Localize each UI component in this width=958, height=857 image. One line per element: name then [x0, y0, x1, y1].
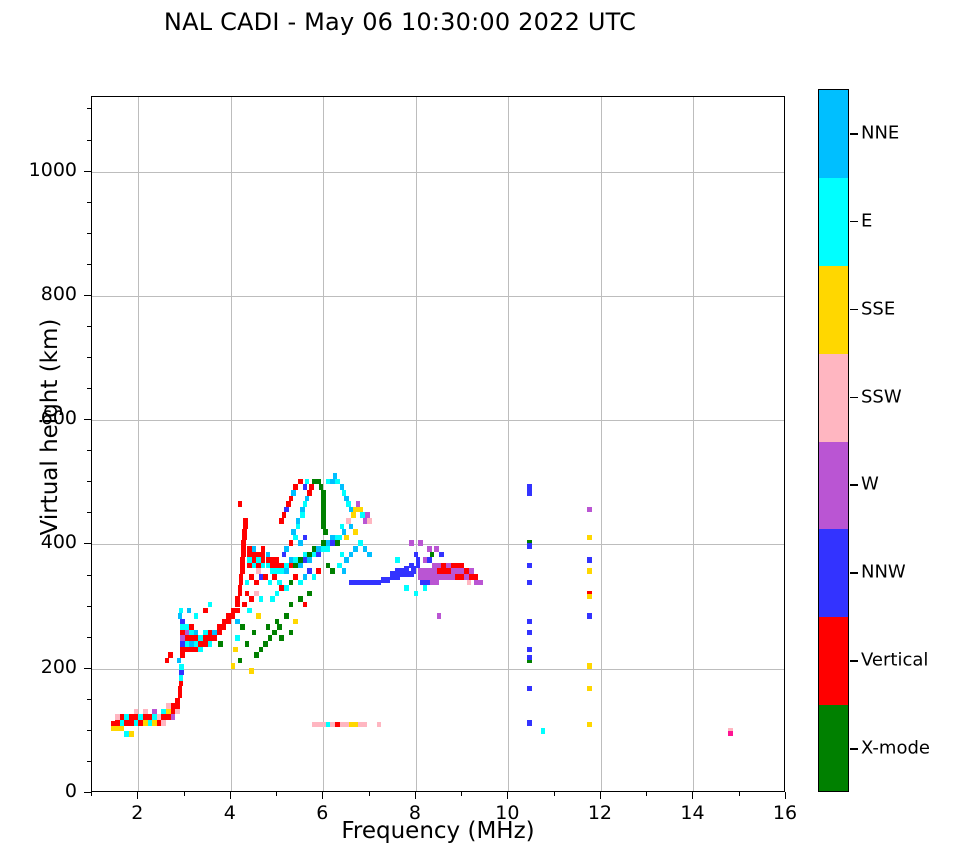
echo-marker — [300, 507, 305, 513]
echo-marker — [238, 591, 243, 597]
echo-marker — [129, 731, 134, 737]
echo-marker — [303, 501, 308, 507]
echo-marker — [240, 568, 245, 574]
colorbar-label-w: W — [861, 474, 879, 495]
echo-marker — [353, 529, 358, 535]
y-tick-minor — [87, 450, 91, 451]
echo-marker — [238, 501, 243, 507]
echo-marker — [404, 566, 409, 572]
echo-marker — [527, 563, 532, 569]
echo-marker — [587, 613, 592, 619]
y-tick-major — [84, 792, 91, 793]
echo-marker — [259, 647, 264, 653]
echo-marker — [282, 552, 287, 558]
echo-marker — [242, 529, 247, 535]
echo-marker — [425, 580, 430, 586]
x-tick-major — [692, 792, 693, 799]
x-tick-major — [137, 792, 138, 799]
colorbar-label-e: E — [861, 210, 872, 231]
gridline-horizontal — [92, 296, 784, 297]
x-tick-minor — [461, 792, 462, 796]
echo-marker — [344, 557, 349, 563]
echo-marker — [434, 546, 439, 552]
colorbar — [818, 89, 849, 792]
echo-marker — [208, 602, 213, 608]
plot-area — [91, 96, 785, 792]
x-tick-minor — [184, 792, 185, 796]
colorbar-tick — [850, 221, 858, 223]
x-tick-major — [322, 792, 323, 799]
colorbar-tick — [850, 309, 858, 311]
echo-marker — [587, 686, 592, 692]
echo-marker — [312, 574, 317, 580]
echo-marker — [233, 647, 238, 653]
echo-marker — [293, 619, 298, 625]
x-tick-minor — [91, 792, 92, 796]
colorbar-segment-nnw — [819, 529, 848, 617]
y-tick-major — [84, 295, 91, 296]
y-tick-minor — [87, 140, 91, 141]
echo-marker — [256, 613, 261, 619]
colorbar-segment-x-mode — [819, 705, 848, 792]
echo-marker — [390, 571, 395, 577]
x-tick-major — [600, 792, 601, 799]
echo-marker — [178, 613, 183, 619]
echo-marker — [296, 524, 301, 530]
echo-marker — [434, 580, 439, 586]
gridline-horizontal — [92, 669, 784, 670]
y-tick-minor — [87, 512, 91, 513]
colorbar-label-nnw: NNW — [861, 562, 906, 583]
colorbar-tick — [850, 572, 858, 574]
echo-marker — [296, 518, 301, 524]
echo-marker — [316, 568, 321, 574]
echo-marker — [235, 596, 240, 602]
echo-marker — [527, 630, 532, 636]
y-tick-minor — [87, 357, 91, 358]
y-tick-major — [84, 419, 91, 420]
echo-marker — [279, 635, 284, 641]
echo-marker — [175, 709, 180, 715]
echo-marker — [342, 568, 347, 574]
echo-marker — [298, 563, 303, 569]
echo-marker — [179, 675, 184, 681]
gridline-vertical — [323, 97, 324, 791]
echo-marker — [245, 580, 250, 586]
y-tick-minor — [87, 575, 91, 576]
colorbar-tick — [850, 133, 858, 135]
echo-marker — [194, 613, 199, 619]
y-tick-minor — [87, 388, 91, 389]
echo-marker — [289, 540, 294, 546]
echo-marker — [275, 591, 280, 597]
colorbar-segment-nne — [819, 90, 848, 178]
echo-marker — [420, 580, 425, 586]
echo-marker — [367, 518, 372, 524]
colorbar-tick — [850, 660, 858, 662]
echo-marker — [423, 557, 428, 563]
echo-marker — [367, 552, 372, 558]
echo-marker — [298, 580, 303, 586]
x-tick-minor — [739, 792, 740, 796]
echo-marker — [527, 647, 532, 653]
x-tick-minor — [276, 792, 277, 796]
echo-marker — [241, 546, 246, 552]
echo-marker — [284, 613, 289, 619]
echo-marker — [330, 568, 335, 574]
gridline-vertical — [416, 97, 417, 791]
echo-marker — [235, 635, 240, 641]
echo-marker — [284, 585, 289, 591]
gridline-vertical — [231, 97, 232, 791]
echo-marker — [587, 535, 592, 541]
echo-marker — [541, 728, 546, 734]
x-tick-minor — [554, 792, 555, 796]
y-axis-label: Virtual height (km) — [37, 247, 63, 607]
echo-marker — [305, 496, 310, 502]
echo-marker — [240, 563, 245, 569]
echo-marker — [587, 507, 592, 513]
echo-marker — [179, 681, 184, 687]
echo-marker — [527, 580, 532, 586]
echo-marker — [303, 484, 308, 490]
echo-marker — [268, 635, 273, 641]
echo-marker — [414, 591, 419, 597]
echo-marker — [303, 574, 308, 580]
echo-marker — [527, 490, 532, 496]
echo-marker — [323, 529, 328, 535]
y-tick-minor — [87, 606, 91, 607]
echo-marker — [238, 658, 243, 664]
echo-marker — [178, 692, 183, 698]
echo-marker — [254, 580, 259, 586]
gridline-vertical — [508, 97, 509, 791]
echo-marker — [416, 557, 421, 563]
echo-marker — [208, 641, 213, 647]
echo-marker — [728, 731, 733, 737]
echo-marker — [395, 557, 400, 563]
colorbar-label-ssw: SSW — [861, 386, 902, 407]
colorbar-label-sse: SSE — [861, 298, 895, 319]
echo-marker — [187, 608, 192, 614]
echo-marker — [298, 540, 303, 546]
echo-marker — [179, 664, 184, 670]
x-tick-major — [415, 792, 416, 799]
echo-marker — [266, 624, 271, 630]
echo-marker — [235, 608, 240, 614]
echo-marker — [241, 552, 246, 558]
echo-marker — [307, 490, 312, 496]
echo-marker — [161, 720, 166, 726]
y-tick-minor — [87, 202, 91, 203]
x-tick-minor — [646, 792, 647, 796]
echo-marker — [241, 540, 246, 546]
echo-marker — [238, 585, 243, 591]
y-tick-minor — [87, 481, 91, 482]
echo-marker — [423, 585, 428, 591]
x-tick-minor — [369, 792, 370, 796]
echo-marker — [231, 663, 236, 669]
x-tick-major — [507, 792, 508, 799]
y-tick-minor — [87, 637, 91, 638]
echo-marker — [293, 574, 298, 580]
echo-marker — [305, 479, 310, 485]
echo-marker — [527, 543, 532, 549]
y-tick-label: 1000 — [7, 159, 77, 181]
echo-marker — [377, 722, 382, 728]
x-tick-major — [785, 792, 786, 799]
y-tick-label: 0 — [7, 780, 77, 802]
echo-marker — [178, 686, 183, 692]
colorbar-label-nne: NNE — [861, 122, 899, 143]
gridline-horizontal — [92, 420, 784, 421]
y-tick-major — [84, 171, 91, 172]
echo-marker — [242, 535, 247, 541]
colorbar-segment-w — [819, 442, 848, 530]
echo-marker — [349, 552, 354, 558]
echo-marker — [212, 635, 217, 641]
x-tick-major — [230, 792, 231, 799]
echo-marker — [198, 647, 203, 653]
colorbar-segment-vertical — [819, 617, 848, 705]
echo-marker — [259, 596, 264, 602]
echo-marker — [437, 613, 442, 619]
colorbar-label-vertical: Vertical — [861, 650, 928, 671]
echo-marker — [337, 535, 342, 541]
gridline-vertical — [138, 97, 139, 791]
echo-marker — [351, 512, 356, 518]
echo-marker — [289, 580, 294, 586]
echo-marker — [409, 563, 414, 569]
echo-marker — [344, 535, 349, 541]
echo-marker — [279, 518, 284, 524]
y-tick-minor — [87, 761, 91, 762]
echo-marker — [307, 568, 312, 574]
echo-marker — [316, 552, 321, 558]
echo-marker — [587, 663, 592, 669]
echo-marker — [395, 568, 400, 574]
echo-marker — [247, 608, 252, 614]
echo-marker — [303, 535, 308, 541]
echo-marker — [179, 608, 184, 614]
echo-marker — [175, 698, 180, 704]
colorbar-segment-e — [819, 178, 848, 266]
echo-marker — [353, 546, 358, 552]
echo-marker — [587, 568, 592, 574]
echo-marker — [527, 655, 532, 661]
echo-marker — [226, 619, 231, 625]
gridline-horizontal — [92, 172, 784, 173]
echo-marker — [217, 630, 222, 636]
echo-marker — [249, 596, 254, 602]
echo-marker — [177, 658, 182, 664]
echo-marker — [284, 568, 289, 574]
echo-marker — [307, 591, 312, 597]
echo-marker — [418, 540, 423, 546]
colorbar-segment-sse — [819, 266, 848, 354]
echo-marker — [335, 540, 340, 546]
echo-marker — [289, 630, 294, 636]
echo-marker — [239, 574, 244, 580]
colorbar-tick — [850, 397, 858, 399]
echo-marker — [165, 658, 170, 664]
echo-marker — [467, 580, 472, 586]
y-tick-minor — [87, 108, 91, 109]
echo-marker — [268, 580, 273, 586]
echo-marker — [439, 552, 444, 558]
ionogram-figure: NAL CADI - May 06 10:30:00 2022 UTC 2468… — [0, 0, 958, 857]
echo-marker — [203, 608, 208, 614]
echo-marker — [587, 557, 592, 563]
echo-marker — [263, 641, 268, 647]
echo-marker — [240, 557, 245, 563]
echo-marker — [222, 624, 227, 630]
y-tick-minor — [87, 730, 91, 731]
y-tick-major — [84, 668, 91, 669]
chart-title: NAL CADI - May 06 10:30:00 2022 UTC — [0, 8, 800, 36]
echo-marker — [404, 585, 409, 591]
echo-marker — [307, 557, 312, 563]
echo-marker — [245, 641, 250, 647]
echo-marker — [300, 512, 305, 518]
echo-marker — [527, 720, 532, 726]
echo-marker — [239, 580, 244, 586]
echo-marker — [478, 580, 483, 586]
echo-marker — [400, 568, 405, 574]
echo-marker — [218, 641, 223, 647]
echo-marker — [414, 552, 419, 558]
echo-marker — [252, 630, 257, 636]
echo-marker — [363, 722, 368, 728]
echo-marker — [587, 722, 592, 728]
gridline-vertical — [601, 97, 602, 791]
echo-marker — [240, 624, 245, 630]
colorbar-tick — [850, 748, 858, 750]
echo-marker — [171, 714, 176, 720]
echo-marker — [275, 619, 280, 625]
echo-marker — [303, 602, 308, 608]
colorbar-segment-ssw — [819, 354, 848, 442]
colorbar-tick — [850, 484, 858, 486]
y-tick-minor — [87, 326, 91, 327]
echo-marker — [243, 518, 248, 524]
echo-marker — [587, 594, 592, 600]
echo-marker — [254, 652, 259, 658]
gridline-vertical — [693, 97, 694, 791]
echo-marker — [235, 602, 240, 608]
echo-marker — [427, 546, 432, 552]
echo-marker — [430, 552, 435, 558]
echo-marker — [270, 596, 275, 602]
echo-marker — [289, 602, 294, 608]
echo-marker — [527, 619, 532, 625]
echo-marker — [409, 540, 414, 546]
echo-marker — [279, 585, 284, 591]
colorbar-label-x-mode: X-mode — [861, 738, 930, 759]
y-tick-major — [84, 543, 91, 544]
echo-marker — [243, 524, 248, 530]
echo-marker — [326, 546, 331, 552]
x-axis-label: Frequency (MHz) — [91, 818, 785, 844]
echo-marker — [272, 630, 277, 636]
y-tick-label: 200 — [7, 656, 77, 678]
echo-marker — [326, 563, 331, 569]
echo-marker — [249, 668, 254, 674]
y-tick-minor — [87, 233, 91, 234]
echo-marker — [527, 686, 532, 692]
echo-marker — [309, 484, 314, 490]
y-tick-minor — [87, 264, 91, 265]
echo-marker — [179, 670, 184, 676]
y-tick-minor — [87, 699, 91, 700]
echo-marker — [277, 624, 282, 630]
echo-marker — [180, 652, 185, 658]
